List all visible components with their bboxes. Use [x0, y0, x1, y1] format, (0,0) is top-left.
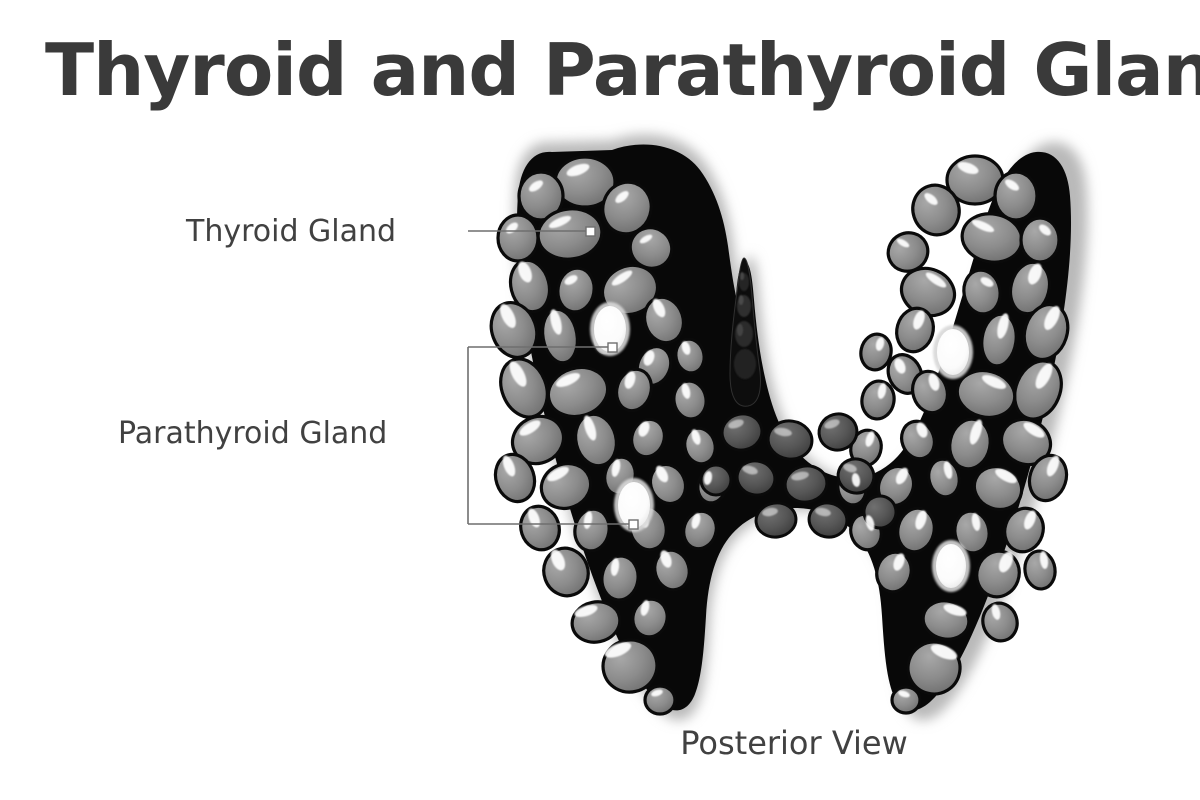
page-title: Thyroid and Parathyroid Gland [45, 28, 1165, 112]
parathyroid-superior-right [933, 325, 973, 379]
thyroid-marker-square [586, 227, 595, 236]
parathyroid-inferior-right [932, 540, 970, 592]
parathyroid-marker-square-inferior [629, 520, 638, 529]
label-parathyroid-gland: Parathyroid Gland [118, 416, 387, 451]
thyroid-gland-illustration [484, 134, 1088, 720]
label-thyroid-gland: Thyroid Gland [186, 214, 396, 249]
figure-caption: Posterior View [0, 724, 1200, 762]
parathyroid-marker-square-superior [608, 343, 617, 352]
caption-text: Posterior View [680, 724, 908, 762]
thyroid-figure-canvas [0, 0, 1200, 800]
